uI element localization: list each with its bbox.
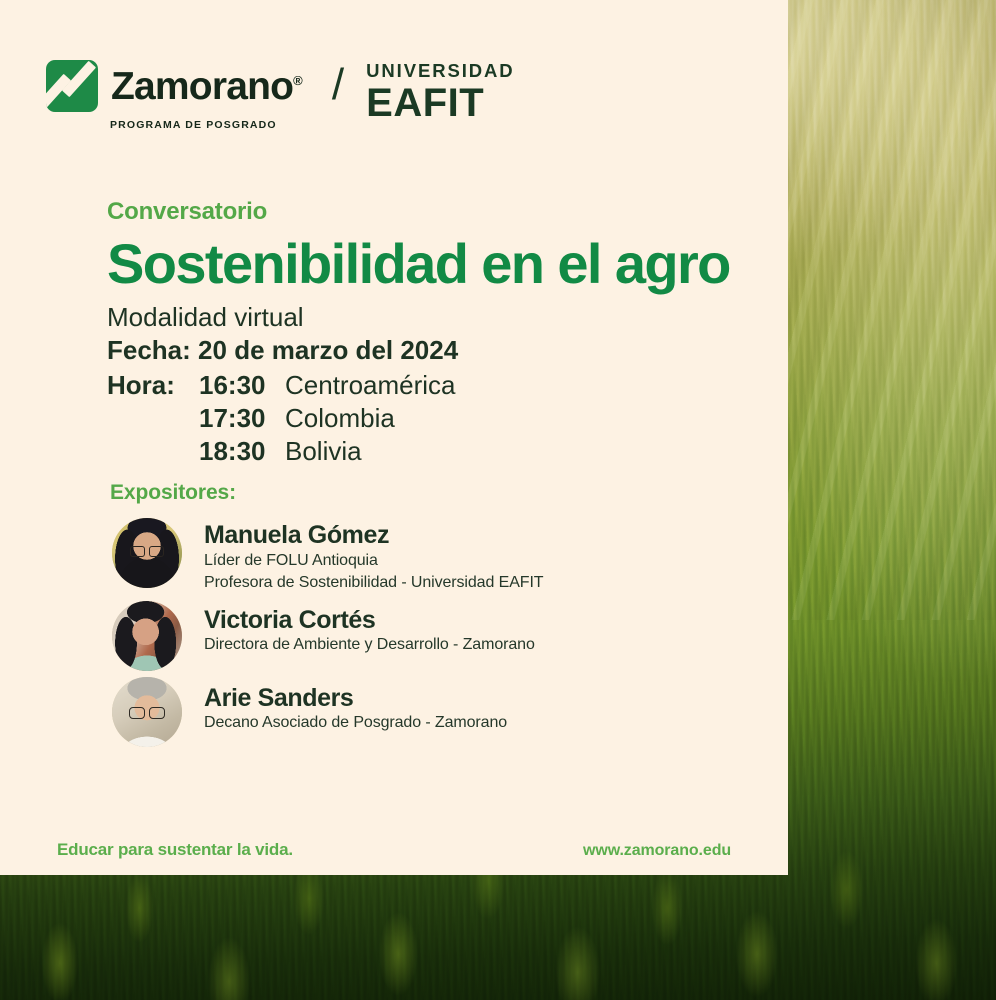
- logo-separator-slash: /: [332, 63, 344, 107]
- zamorano-z-logo-icon: [46, 60, 98, 112]
- website-url[interactable]: www.zamorano.edu: [583, 842, 731, 860]
- event-time-table: Hora: 16:30 Centroamérica 17:30 Colombia…: [107, 369, 458, 468]
- logo-lockup: Zamorano® PROGRAMA DE POSGRADO / UNIVERS…: [46, 60, 515, 131]
- list-item: Victoria Cortés Directora de Ambiente y …: [112, 601, 752, 671]
- speaker-photo-victoria-cortes: [112, 601, 182, 671]
- event-time-hour: 18:30: [199, 435, 279, 468]
- speakers-list: Manuela Gómez Líder de FOLU Antioquia Pr…: [112, 518, 752, 753]
- event-time-hour: 17:30: [199, 402, 279, 435]
- speaker-name: Victoria Cortés: [204, 607, 535, 635]
- speakers-heading: Expositores:: [110, 481, 236, 505]
- speaker-name: Arie Sanders: [204, 685, 507, 713]
- zamorano-wordmark-text: Zamorano: [111, 65, 293, 108]
- poster-canvas: Zamorano® PROGRAMA DE POSGRADO / UNIVERS…: [0, 0, 996, 1000]
- eafit-universidad-label: UNIVERSIDAD: [366, 62, 514, 81]
- zamorano-logo-top: Zamorano®: [46, 60, 302, 112]
- event-time-label: Hora:: [107, 369, 199, 402]
- event-date-label: Fecha:: [107, 335, 191, 365]
- registered-trademark-icon: ®: [293, 73, 302, 88]
- glasses-icon: [130, 546, 164, 556]
- page-title: Sostenibilidad en el agro: [107, 235, 767, 293]
- brand-tagline: Educar para sustentar la vida.: [57, 840, 293, 860]
- speaker-photo-arie-sanders: [112, 677, 182, 747]
- speaker-text: Arie Sanders Decano Asociado de Posgrado…: [182, 677, 507, 735]
- speaker-role-line: Directora de Ambiente y Desarrollo - Zam…: [204, 634, 535, 657]
- eafit-wordmark: EAFIT: [366, 83, 514, 123]
- headline-block: Conversatorio Sostenibilidad en el agro: [107, 200, 767, 293]
- avatar-face: [112, 601, 182, 671]
- speaker-text: Victoria Cortés Directora de Ambiente y …: [182, 601, 535, 657]
- event-time-zone: Centroamérica: [279, 369, 458, 402]
- speaker-role-line: Decano Asociado de Posgrado - Zamorano: [204, 712, 507, 735]
- event-time-hour: 16:30: [199, 369, 279, 402]
- speaker-role-line: Profesora de Sostenibilidad - Universida…: [204, 572, 543, 595]
- speaker-text: Manuela Gómez Líder de FOLU Antioquia Pr…: [182, 518, 543, 595]
- event-time-zone: Colombia: [279, 402, 458, 435]
- event-details: Modalidad virtual Fecha: 20 de marzo del…: [107, 301, 458, 468]
- list-item: Manuela Gómez Líder de FOLU Antioquia Pr…: [112, 518, 752, 595]
- event-date: Fecha: 20 de marzo del 2024: [107, 334, 458, 367]
- speaker-role-line: Líder de FOLU Antioquia: [204, 550, 543, 573]
- glasses-icon: [129, 707, 165, 718]
- list-item: Arie Sanders Decano Asociado de Posgrado…: [112, 677, 752, 747]
- zamorano-wordmark: Zamorano®: [111, 67, 302, 106]
- zamorano-logo: Zamorano® PROGRAMA DE POSGRADO: [46, 60, 302, 131]
- event-modality: Modalidad virtual: [107, 301, 458, 334]
- event-time-zone: Bolivia: [279, 435, 458, 468]
- zamorano-program-label: PROGRAMA DE POSGRADO: [110, 119, 302, 131]
- event-date-value: 20 de marzo del 2024: [198, 335, 458, 365]
- event-kicker: Conversatorio: [107, 200, 767, 224]
- eafit-logo: UNIVERSIDAD EAFIT: [366, 62, 514, 123]
- speaker-name: Manuela Gómez: [204, 522, 543, 550]
- speaker-photo-manuela-gomez: [112, 518, 182, 588]
